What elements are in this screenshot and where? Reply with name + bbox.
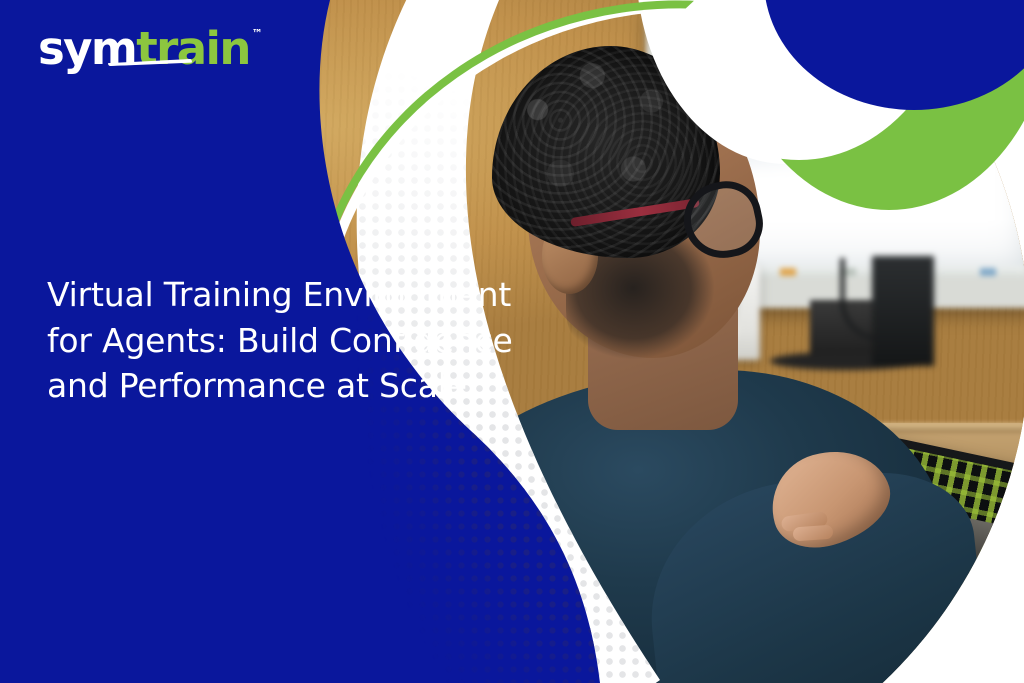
headline-line-3: and Performance at Scale — [47, 363, 547, 409]
logo-text-train: train — [136, 26, 250, 71]
symtrain-logo[interactable]: sym train ™ — [38, 26, 263, 82]
headline-line-2: for Agents: Build Confidence — [47, 318, 547, 364]
trademark-symbol: ™ — [252, 28, 263, 39]
page-title: Virtual Training Environment for Agents:… — [47, 272, 547, 409]
headline-line-1: Virtual Training Environment — [47, 272, 547, 318]
marketing-banner: sym train ™ Virtual Training Environment… — [0, 0, 1024, 683]
